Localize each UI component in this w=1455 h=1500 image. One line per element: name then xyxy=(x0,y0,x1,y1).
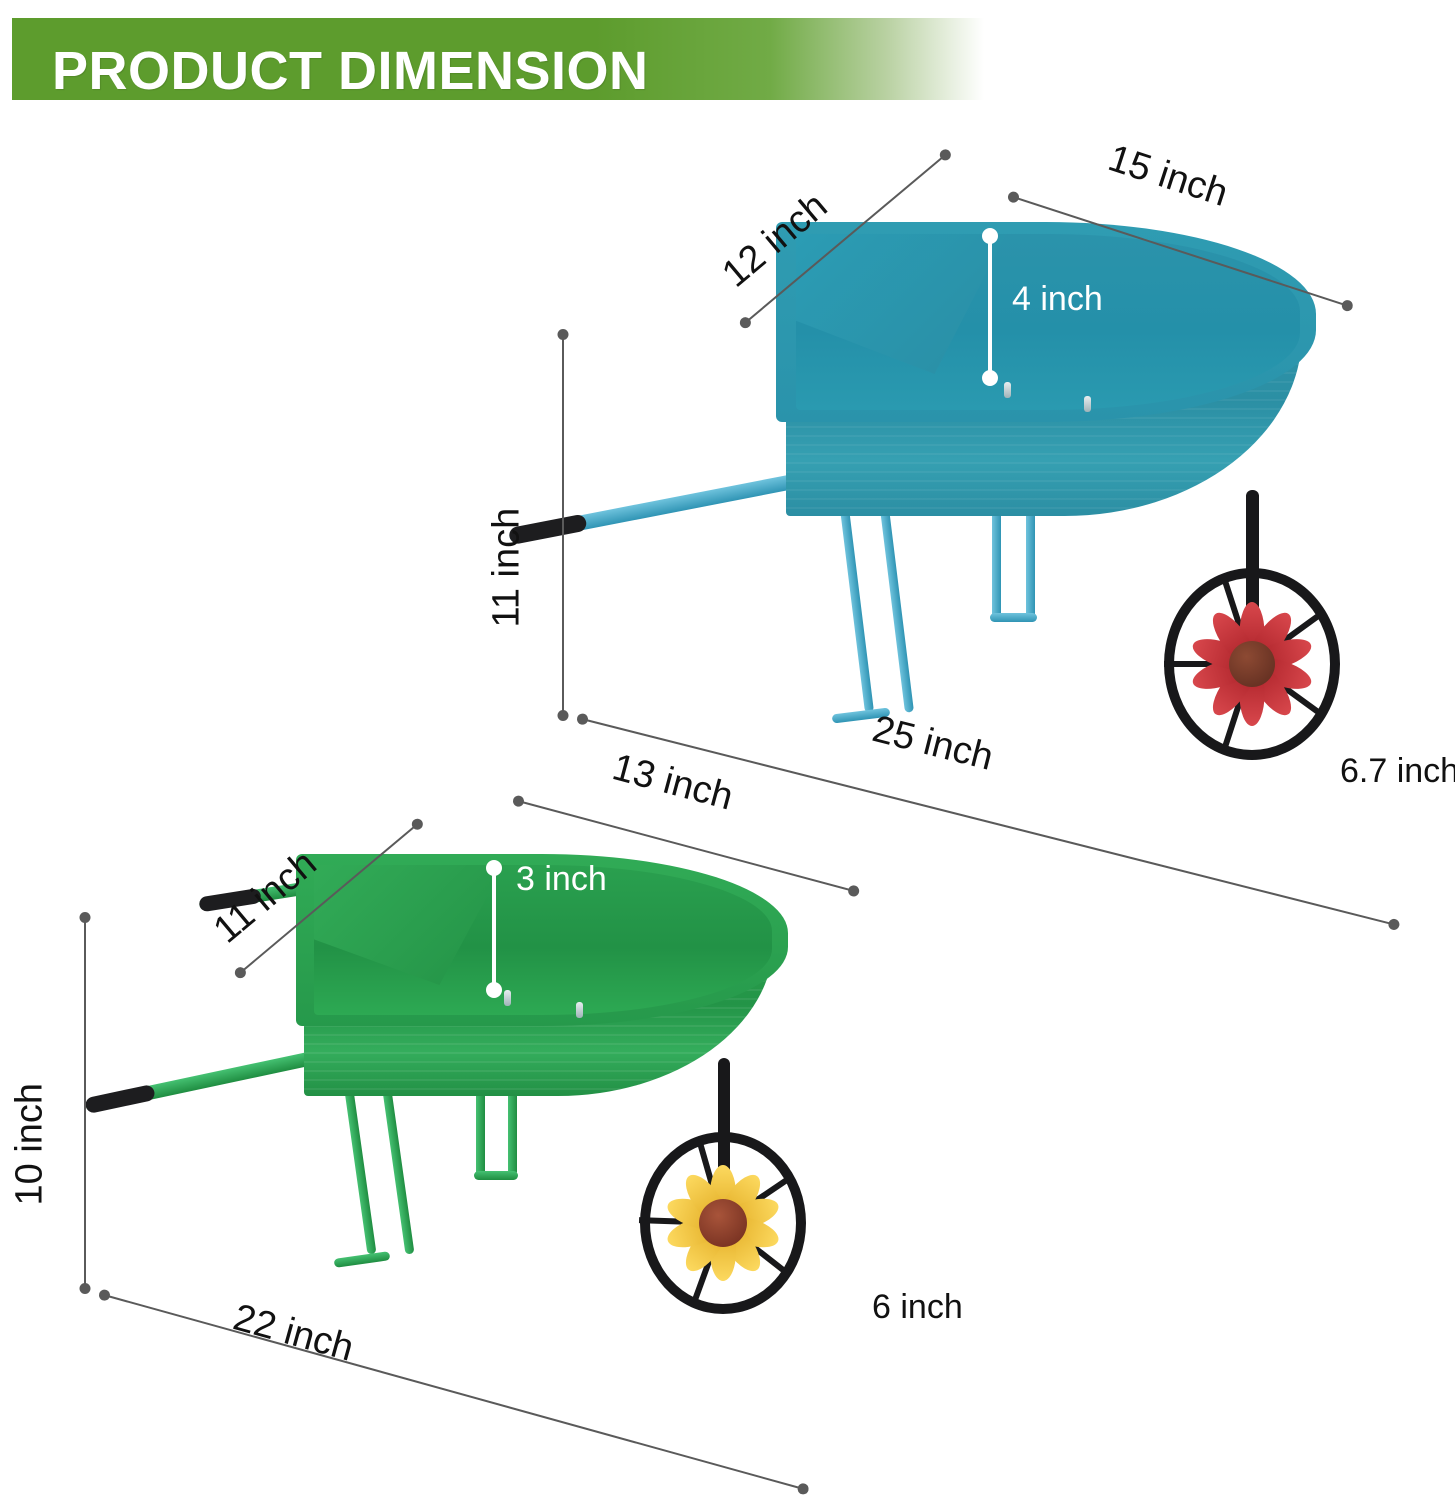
blue-screw-1 xyxy=(1004,382,1011,398)
header-banner: PRODUCT DIMENSION xyxy=(12,18,984,100)
blue-front-leg xyxy=(992,500,1048,642)
blue-wheel-label: 6.7 inch xyxy=(1340,752,1455,791)
large-wheelbarrow-planter xyxy=(560,200,1360,770)
green-tray-height-label: 3 inch xyxy=(516,860,607,899)
green-handle-grip xyxy=(84,1084,156,1114)
blue-height-dimline xyxy=(562,334,564,716)
blue-screw-2 xyxy=(1084,396,1091,412)
green-height-dimline xyxy=(84,917,86,1289)
blue-flower-center xyxy=(1229,641,1275,687)
green-flower-center xyxy=(699,1199,747,1247)
blue-height-label: 11 inch xyxy=(486,508,529,628)
green-depth-line xyxy=(492,868,496,990)
diagram-canvas: PRODUCT DIMENSION xyxy=(0,0,1455,1500)
green-wheel xyxy=(640,1132,806,1314)
blue-wheel xyxy=(1164,568,1340,760)
green-height-label: 10 inch xyxy=(9,1083,52,1206)
green-wheel-flower xyxy=(652,1147,794,1299)
blue-wheel-flower xyxy=(1177,584,1327,744)
green-screw-1 xyxy=(504,990,511,1006)
green-wheel-label: 6 inch xyxy=(872,1288,963,1327)
blue-depth-line xyxy=(988,236,992,378)
blue-tray-height-label: 4 inch xyxy=(1012,280,1103,319)
green-screw-2 xyxy=(576,1002,583,1018)
page-title: PRODUCT DIMENSION xyxy=(52,40,649,102)
